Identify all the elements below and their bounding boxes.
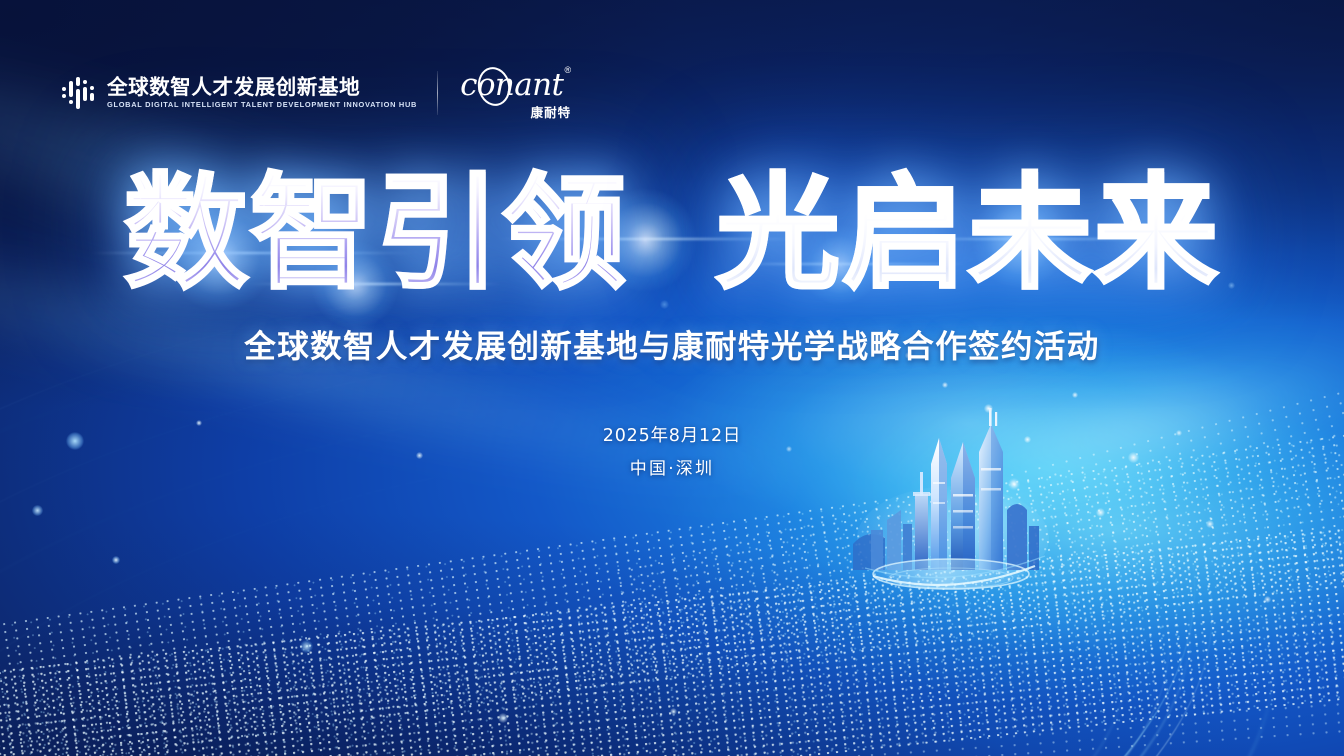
hero-title-part-1: 数智引领 [124,172,628,296]
organization-name-en: GLOBAL DIGITAL INTELLIGENT TALENT DEVELO… [107,101,417,108]
organization-logo[interactable]: 全球数智人才发展创新基地 GLOBAL DIGITAL INTELLIGENT … [62,77,417,109]
brand-wordmark: conant [460,70,563,101]
brand-logo-conant[interactable]: conant ® 康耐特 [460,66,572,120]
poster-canvas: 全球数智人才发展创新基地 GLOBAL DIGITAL INTELLIGENT … [0,0,1344,756]
hero-title-line: 数智引领光启未来 [124,172,1220,296]
dot-matrix-icon [62,77,96,109]
organization-name-block: 全球数智人才发展创新基地 GLOBAL DIGITAL INTELLIGENT … [107,78,417,109]
header-logo-bar: 全球数智人才发展创新基地 GLOBAL DIGITAL INTELLIGENT … [62,66,572,120]
hero-title-part-2: 光启未来 [716,172,1220,296]
logo-divider [437,71,438,115]
brand-name-cn: 康耐特 [531,107,572,120]
event-details: 2025年8月12日 中国·深圳 [0,428,1344,478]
event-location: 中国·深圳 [0,461,1344,478]
hero-title: 数智引领光启未来 [0,172,1344,296]
registered-trademark-icon: ® [564,66,571,75]
organization-name-cn: 全球数智人才发展创新基地 [107,78,417,99]
hero-subtitle: 全球数智人才发展创新基地与康耐特光学战略合作签约活动 [0,328,1344,367]
event-date: 2025年8月12日 [0,428,1344,446]
